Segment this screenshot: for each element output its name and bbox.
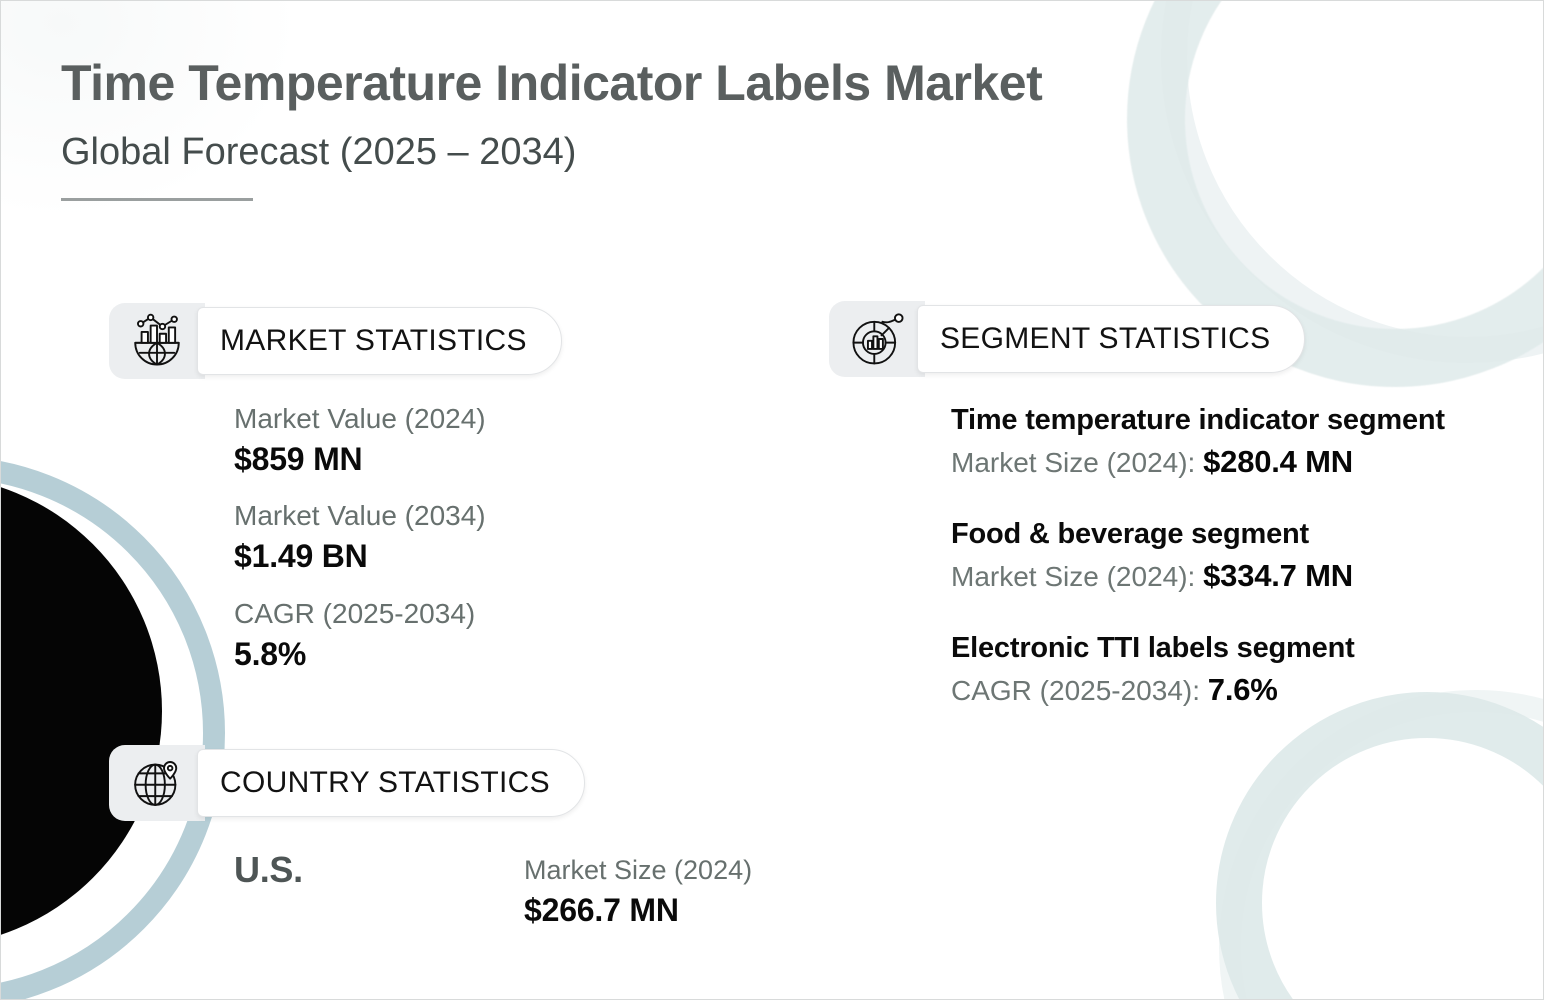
segment-statistics-list: Time temperature indicator segment Marke…: [951, 401, 1521, 743]
segment-metric: CAGR (2025-2034): 7.6%: [951, 669, 1521, 711]
section-label-text: MARKET STATISTICS: [220, 324, 527, 358]
stat-label: Market Value (2034): [234, 498, 486, 534]
segment-metric-label: Market Size (2024):: [951, 447, 1203, 478]
stat-item: Market Value (2034) $1.49 BN: [234, 498, 486, 577]
stat-value: $1.49 BN: [234, 536, 486, 578]
stat-item: CAGR (2025-2034) 5.8%: [234, 596, 486, 675]
section-label-pill-segment-statistics: SEGMENT STATISTICS: [917, 305, 1305, 373]
segment-metric-value: $334.7 MN: [1203, 558, 1353, 593]
stat-item: Market Value (2024) $859 MN: [234, 401, 486, 480]
header: Time Temperature Indicator Labels Market…: [61, 56, 1042, 201]
segment-metric-label: CAGR (2025-2034):: [951, 675, 1208, 706]
section-label-pill-country-statistics: COUNTRY STATISTICS: [197, 749, 585, 817]
section-label-text: SEGMENT STATISTICS: [940, 322, 1270, 356]
left-ring-decoration: [0, 456, 225, 1000]
section-header-country-statistics: COUNTRY STATISTICS: [109, 745, 585, 821]
section-label-pill-market-statistics: MARKET STATISTICS: [197, 307, 562, 375]
infographic-canvas: Time Temperature Indicator Labels Market…: [0, 0, 1544, 1000]
segment-name: Time temperature indicator segment: [951, 401, 1521, 439]
segment-metric: Market Size (2024): $334.7 MN: [951, 555, 1521, 597]
stat-value: $859 MN: [234, 439, 486, 481]
segment-item: Food & beverage segment Market Size (202…: [951, 515, 1521, 597]
stat-label: CAGR (2025-2034): [234, 596, 486, 632]
page-title: Time Temperature Indicator Labels Market: [61, 56, 1042, 111]
globe-bar-chart-icon: [109, 303, 205, 379]
stat-label: Market Value (2024): [234, 401, 486, 437]
stat-label: Market Size (2024): [524, 853, 752, 888]
stat-value: 5.8%: [234, 634, 486, 676]
country-metric: Market Size (2024) $266.7 MN: [524, 853, 752, 931]
donut-chart-arrow-icon: [829, 301, 925, 377]
stat-value: $266.7 MN: [524, 890, 752, 932]
section-label-text: COUNTRY STATISTICS: [220, 766, 550, 800]
title-divider: [61, 198, 253, 201]
segment-name: Food & beverage segment: [951, 515, 1521, 553]
segment-name: Electronic TTI labels segment: [951, 629, 1521, 667]
segment-metric-value: 7.6%: [1208, 672, 1278, 707]
market-statistics-list: Market Value (2024) $859 MN Market Value…: [234, 401, 486, 693]
segment-item: Time temperature indicator segment Marke…: [951, 401, 1521, 483]
globe-pin-icon: [109, 745, 205, 821]
segment-item: Electronic TTI labels segment CAGR (2025…: [951, 629, 1521, 711]
country-statistics-row: U.S. Market Size (2024) $266.7 MN: [234, 849, 752, 931]
segment-metric: Market Size (2024): $280.4 MN: [951, 441, 1521, 483]
page-subtitle: Global Forecast (2025 – 2034): [61, 131, 1042, 174]
left-black-circle-decoration: [0, 475, 162, 947]
section-header-market-statistics: MARKET STATISTICS: [109, 303, 562, 379]
section-header-segment-statistics: SEGMENT STATISTICS: [829, 301, 1305, 377]
segment-metric-label: Market Size (2024):: [951, 561, 1203, 592]
country-name: U.S.: [234, 849, 524, 891]
segment-metric-value: $280.4 MN: [1203, 444, 1353, 479]
